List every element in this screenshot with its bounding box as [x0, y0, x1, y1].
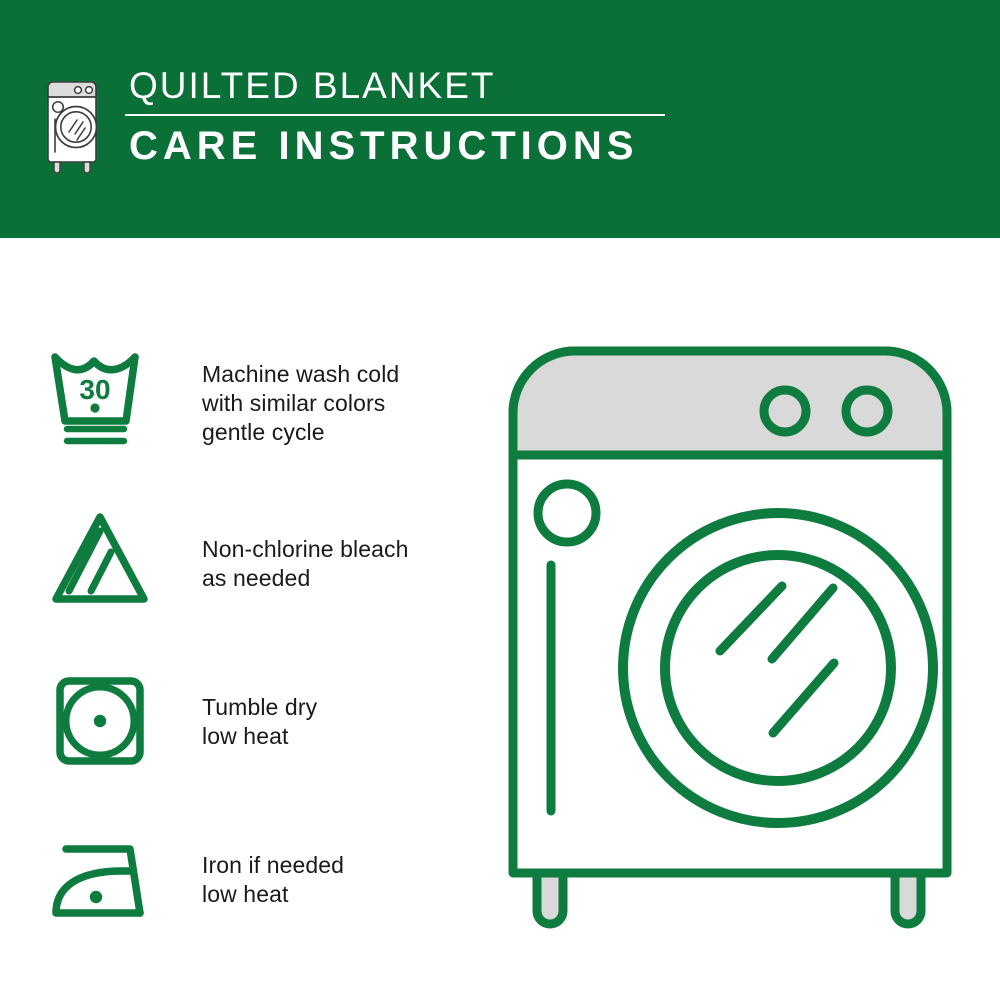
care-text-line: with similar colors	[202, 389, 399, 418]
washer-leg-right	[895, 873, 921, 924]
care-text-line: as needed	[202, 564, 408, 593]
care-text-tumble-dry: Tumble dry low heat	[202, 663, 317, 751]
care-row-bleach: Non-chlorine bleach as needed	[48, 503, 468, 663]
care-symbol-slot	[48, 823, 160, 921]
washing-machine-icon	[45, 70, 107, 175]
care-text-line: Non-chlorine bleach	[202, 535, 408, 564]
care-text-line: low heat	[202, 880, 344, 909]
care-symbol-slot: 30	[48, 343, 160, 449]
wash-tub-30-gentle-icon: 30	[48, 349, 152, 449]
care-text-line: Tumble dry	[202, 693, 317, 722]
washer-indicator-circle	[538, 484, 596, 542]
page-title-primary: QUILTED BLANKET	[125, 64, 665, 108]
tumble-dry-low-heat-icon	[48, 671, 152, 771]
care-text-machine-wash: Machine wash cold with similar colors ge…	[202, 343, 399, 447]
non-chlorine-bleach-triangle-icon	[48, 509, 152, 609]
content-area: 30 Machine wash cold with similar colors…	[0, 238, 1000, 1000]
care-symbol-slot	[48, 663, 160, 771]
wash-temperature-value: 30	[79, 374, 110, 405]
care-text-line: Machine wash cold	[202, 360, 399, 389]
washer-knob-right	[846, 390, 888, 432]
care-text-iron: Iron if needed low heat	[202, 823, 344, 909]
header-band: QUILTED BLANKET CARE INSTRUCTIONS	[0, 0, 1000, 238]
page-title-secondary: CARE INSTRUCTIONS	[125, 123, 665, 169]
care-text-line: gentle cycle	[202, 418, 399, 447]
washer-knob-left	[764, 390, 806, 432]
care-instruction-list: 30 Machine wash cold with similar colors…	[48, 343, 468, 983]
care-row-machine-wash: 30 Machine wash cold with similar colors…	[48, 343, 468, 503]
care-symbol-slot	[48, 503, 160, 609]
care-instructions-page: QUILTED BLANKET CARE INSTRUCTIONS	[0, 0, 1000, 1000]
iron-low-heat-icon	[48, 841, 152, 921]
front-load-washing-machine-illustration	[495, 333, 965, 933]
title-divider	[125, 114, 665, 116]
header-content: QUILTED BLANKET CARE INSTRUCTIONS	[45, 64, 665, 175]
care-row-iron: Iron if needed low heat	[48, 823, 468, 983]
care-text-line: low heat	[202, 722, 317, 751]
title-block: QUILTED BLANKET CARE INSTRUCTIONS	[125, 64, 665, 169]
care-text-line: Iron if needed	[202, 851, 344, 880]
care-text-bleach: Non-chlorine bleach as needed	[202, 503, 408, 593]
washer-leg-left	[537, 873, 563, 924]
care-row-tumble-dry: Tumble dry low heat	[48, 663, 468, 823]
